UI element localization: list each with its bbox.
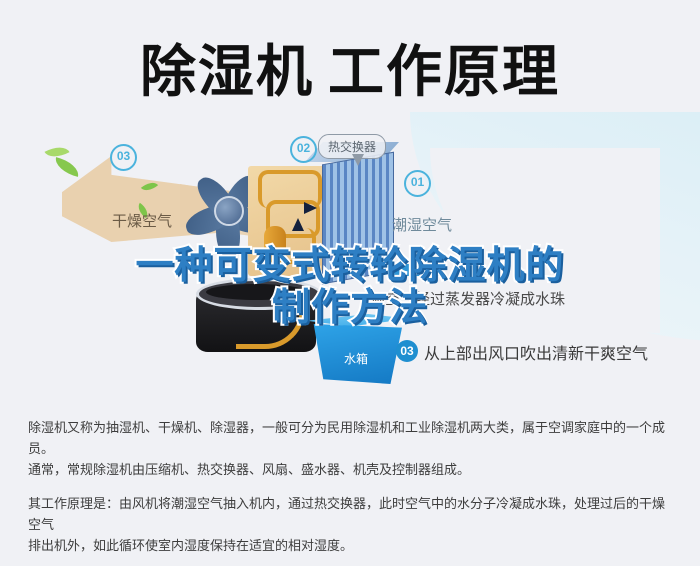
callout-label-humid-air: 潮湿空气 bbox=[392, 214, 452, 235]
air-inlet-arrow-head bbox=[388, 258, 404, 282]
callout-badge-03-dry-air: 03 bbox=[110, 144, 137, 171]
paragraph-2-line-2: 排出机外，如此循环使室内湿度保持在适宜的相对湿度。 bbox=[28, 539, 353, 554]
paragraph-1: 除湿机又称为抽湿机、干燥机、除湿器，一般可分为民用除湿机和工业除湿机两大类，属于… bbox=[28, 418, 676, 481]
leaf-icon bbox=[53, 157, 82, 177]
paragraph-1-line-2: 通常，常规除湿机由压缩机、热交换器、风扇、盛水器、机壳及控制器组成。 bbox=[28, 463, 470, 478]
diagram-illustration: 水箱 03 干燥空气 02 热交换器 01 潮湿空气 湿空气经过蒸发器冷凝成水珠… bbox=[0, 118, 700, 406]
paragraph-2-line-1: 其工作原理是：由风机将潮湿空气抽入机内，通过热交换器，此时空气中的水分子冷凝成水… bbox=[28, 497, 665, 533]
compressor-drum-ring bbox=[206, 284, 306, 300]
callout-bubble-tail bbox=[352, 154, 364, 166]
title-text: 除湿机工作原理 bbox=[140, 27, 560, 108]
paragraph-2: 其工作原理是：由风机将潮湿空气抽入机内，通过热交换器，此时空气中的水分子冷凝成水… bbox=[28, 494, 676, 557]
callout-badge-01-humid-air: 01 bbox=[404, 170, 431, 197]
compressor-cylinder bbox=[264, 226, 286, 264]
poster-root: 除湿机工作原理 bbox=[0, 0, 700, 566]
fan-hub bbox=[214, 196, 244, 226]
flow-arrow-up-icon bbox=[292, 218, 304, 231]
water-tank-label: 水箱 bbox=[344, 350, 368, 367]
callout-label-dry-air: 干燥空气 bbox=[112, 210, 172, 231]
title-part-1: 除湿机 bbox=[140, 40, 314, 105]
page-title: 除湿机工作原理 bbox=[0, 28, 700, 106]
body-copy: 除湿机又称为抽湿机、干燥机、除湿器，一般可分为民用除湿机和工业除湿机两大类，属于… bbox=[28, 418, 676, 557]
heat-exchanger bbox=[322, 152, 394, 285]
step-line-03-text: 从上部出风口吹出清新干爽空气 bbox=[424, 340, 648, 364]
step-badge-03: 03 bbox=[396, 340, 418, 362]
callout-badge-02-heat-exchanger: 02 bbox=[290, 136, 317, 163]
flow-arrow-right-icon bbox=[304, 202, 317, 214]
water-tank: 水箱 bbox=[300, 314, 410, 388]
title-part-2: 工作原理 bbox=[328, 40, 560, 105]
paragraph-1-line-1: 除湿机又称为抽湿机、干燥机、除湿器，一般可分为民用除湿机和工业除湿机两大类，属于… bbox=[28, 421, 665, 457]
air-inlet-arrow-bar bbox=[400, 264, 442, 276]
step-line-02-text: 湿空气经过蒸发器冷凝成水珠 bbox=[370, 288, 565, 309]
